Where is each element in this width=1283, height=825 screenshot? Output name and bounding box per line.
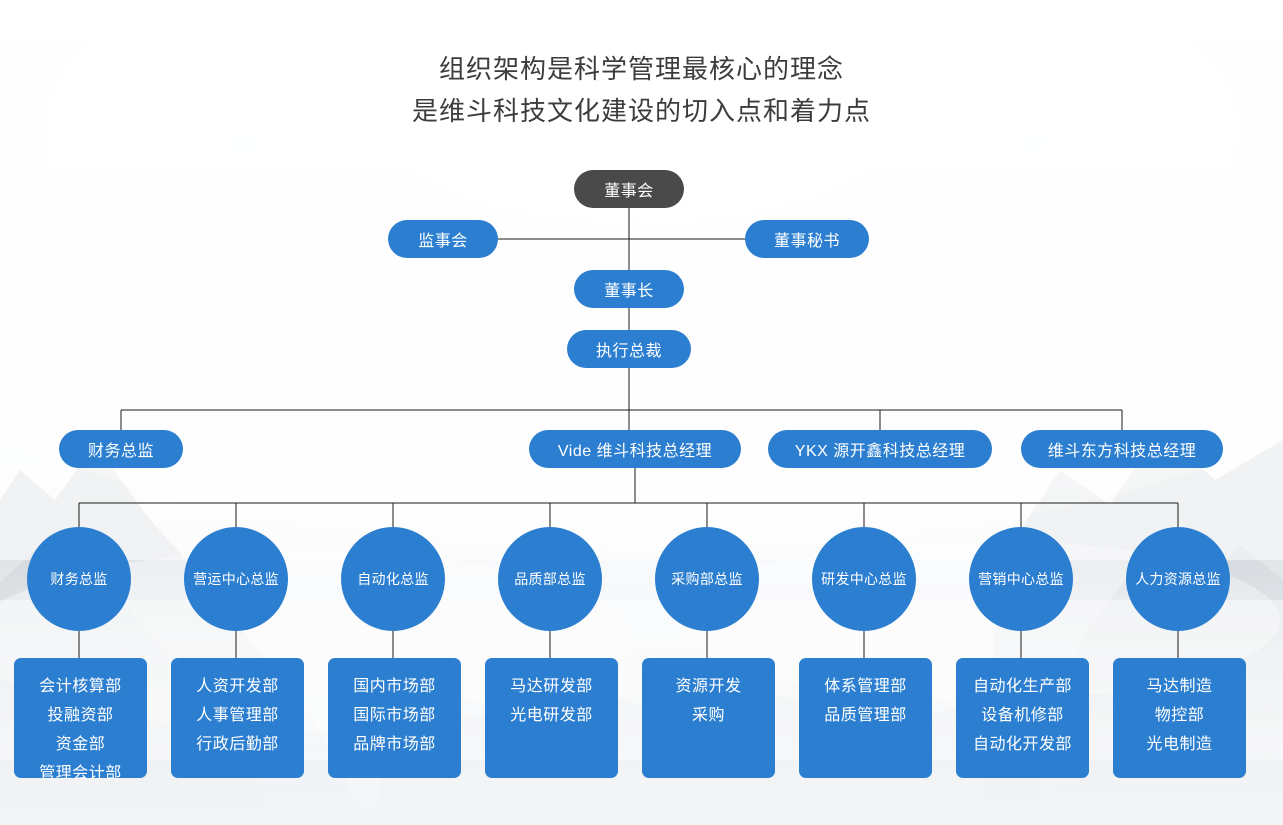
node-label: Vide 维斗科技总经理 <box>558 437 712 461</box>
dept-line: 会计核算部 <box>39 672 122 701</box>
dept-line: 马达制造 <box>1146 672 1212 701</box>
node-label: 监事会 <box>418 227 468 251</box>
dept-line: 人资开发部 <box>196 672 279 701</box>
node-label: 财务总监 <box>88 437 154 461</box>
node-dept-operations[interactable]: 人资开发部 人事管理部 行政后勤部 <box>171 658 304 778</box>
node-finance-director-top[interactable]: 财务总监 <box>59 430 183 468</box>
node-label: 研发中心总监 <box>821 569 907 589</box>
dept-line: 设备机修部 <box>981 701 1064 730</box>
node-chairman[interactable]: 董事长 <box>574 270 684 308</box>
node-dept-automation-markets[interactable]: 国内市场部 国际市场部 品牌市场部 <box>328 658 461 778</box>
dept-line: 马达研发部 <box>510 672 593 701</box>
dept-line: 光电制造 <box>1146 730 1212 759</box>
dept-line: 管理会计部 <box>39 759 122 788</box>
org-chart-nodes: 董事会 监事会 董事秘书 董事长 执行总裁 财务总监 Vide 维斗科技总经理 … <box>0 0 1283 825</box>
node-label: 董事会 <box>604 177 654 201</box>
node-board-of-directors[interactable]: 董事会 <box>574 170 684 208</box>
node-circle-purchasing-director[interactable]: 采购部总监 <box>655 527 759 631</box>
node-dept-quality-rd[interactable]: 马达研发部 光电研发部 <box>485 658 618 778</box>
dept-line: 资源开发 <box>675 672 741 701</box>
dept-line: 自动化生产部 <box>973 672 1072 701</box>
node-dept-automation-production[interactable]: 自动化生产部 设备机修部 自动化开发部 <box>956 658 1089 778</box>
node-circle-hr-director[interactable]: 人力资源总监 <box>1126 527 1230 631</box>
node-circle-marketing-center-director[interactable]: 营销中心总监 <box>969 527 1073 631</box>
node-label: 人力资源总监 <box>1135 569 1221 589</box>
node-executive-president[interactable]: 执行总裁 <box>567 330 691 368</box>
node-dongfang-gm[interactable]: 维斗东方科技总经理 <box>1021 430 1223 468</box>
dept-line: 光电研发部 <box>510 701 593 730</box>
node-supervisory-board[interactable]: 监事会 <box>388 220 498 258</box>
dept-line: 人事管理部 <box>196 701 279 730</box>
node-dept-finance[interactable]: 会计核算部 投融资部 资金部 管理会计部 <box>14 658 147 778</box>
node-circle-operations-center-director[interactable]: 营运中心总监 <box>184 527 288 631</box>
node-circle-quality-director[interactable]: 品质部总监 <box>498 527 602 631</box>
node-label: 自动化总监 <box>357 569 429 589</box>
node-circle-rd-center-director[interactable]: 研发中心总监 <box>812 527 916 631</box>
node-label: 品质部总监 <box>514 569 586 589</box>
node-ykx-gm[interactable]: YKX 源开鑫科技总经理 <box>768 430 992 468</box>
node-label: 董事秘书 <box>774 227 840 251</box>
dept-line: 物控部 <box>1155 701 1205 730</box>
node-label: 营销中心总监 <box>978 569 1064 589</box>
node-dept-manufacturing[interactable]: 马达制造 物控部 光电制造 <box>1113 658 1246 778</box>
dept-line: 品牌市场部 <box>353 730 436 759</box>
dept-line: 投融资部 <box>47 701 113 730</box>
dept-line: 资金部 <box>56 730 106 759</box>
node-label: 财务总监 <box>50 569 107 589</box>
node-circle-automation-director[interactable]: 自动化总监 <box>341 527 445 631</box>
dept-line: 国际市场部 <box>353 701 436 730</box>
node-dept-system-quality[interactable]: 体系管理部 品质管理部 <box>799 658 932 778</box>
node-label: 采购部总监 <box>671 569 743 589</box>
dept-line: 采购 <box>692 701 725 730</box>
node-label: 维斗东方科技总经理 <box>1048 437 1197 461</box>
node-board-secretary[interactable]: 董事秘书 <box>745 220 869 258</box>
dept-line: 体系管理部 <box>824 672 907 701</box>
node-label: 营运中心总监 <box>193 569 279 589</box>
dept-line: 行政后勤部 <box>196 730 279 759</box>
node-label: YKX 源开鑫科技总经理 <box>795 437 965 461</box>
node-label: 执行总裁 <box>596 337 662 361</box>
node-dept-purchasing[interactable]: 资源开发 采购 <box>642 658 775 778</box>
node-circle-finance-director[interactable]: 财务总监 <box>27 527 131 631</box>
dept-line: 品质管理部 <box>824 701 907 730</box>
node-label: 董事长 <box>604 277 654 301</box>
dept-line: 自动化开发部 <box>973 730 1072 759</box>
node-vide-gm[interactable]: Vide 维斗科技总经理 <box>529 430 741 468</box>
dept-line: 国内市场部 <box>353 672 436 701</box>
